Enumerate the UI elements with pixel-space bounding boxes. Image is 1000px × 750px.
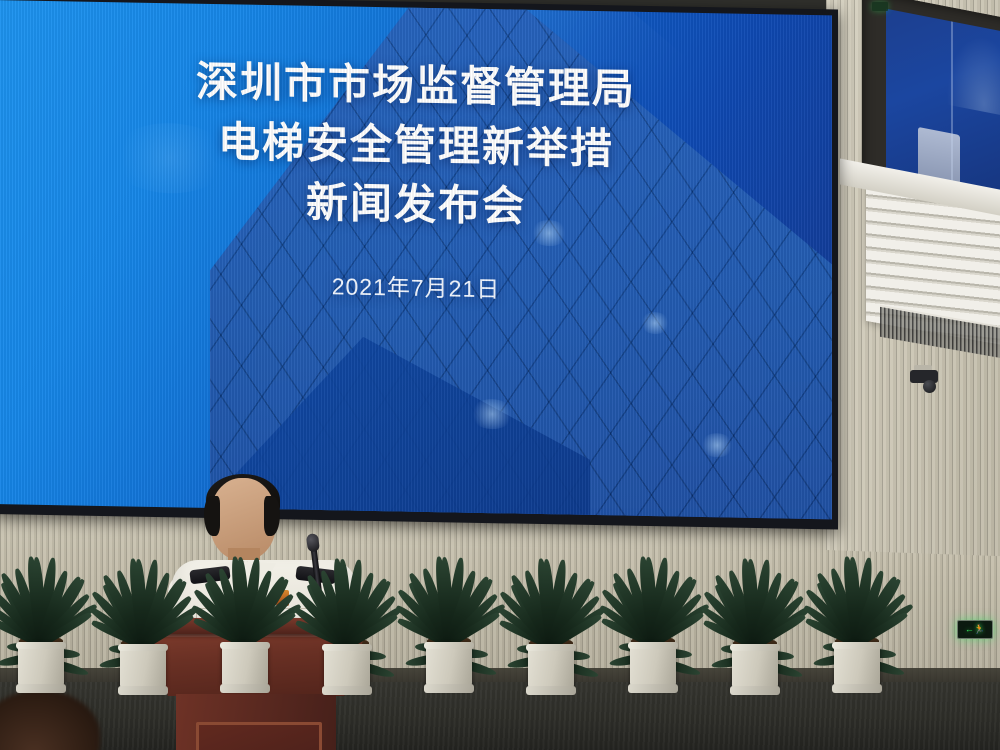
potted-plant [709, 529, 801, 690]
plant-pot-rim [526, 644, 576, 651]
slide-title: 深圳市市场监督管理局 电梯安全管理新举措 新闻发布会 [0, 48, 832, 242]
potted-plant [505, 523, 597, 690]
plant-pot-rim [424, 642, 474, 649]
slide-text-block: 深圳市市场监督管理局 电梯安全管理新举措 新闻发布会 2021年7月21日 [0, 0, 832, 310]
window-mullion [951, 21, 953, 185]
emergency-exit-sign-icon: ←🏃 [957, 620, 993, 639]
speaker-hair-left [204, 496, 220, 536]
camera-lens [923, 380, 936, 393]
plant-pot [426, 642, 472, 688]
potted-plant [607, 533, 699, 688]
window-glass [886, 9, 1000, 198]
plant-pot [732, 644, 778, 690]
led-screen-bezel: 深圳市市场监督管理局 电梯安全管理新举措 新闻发布会 2021年7月21日 [0, 0, 838, 529]
potted-plant [403, 527, 495, 688]
plant-pot-rim [16, 642, 66, 649]
press-conference-photo: ←🏃 深圳市市场监督管理局 电梯安全管理新举措 新闻发布会 2021年7月21日 [0, 0, 1000, 750]
podium-front-panel [196, 722, 322, 750]
plant-pot [324, 644, 370, 690]
plant-pot [18, 642, 64, 688]
plant-pot [630, 642, 676, 688]
potted-plant [811, 521, 903, 688]
exit-sign-secondary-icon [872, 2, 888, 11]
plant-pot [528, 644, 574, 690]
potted-plant [0, 533, 87, 688]
plant-pot [834, 642, 880, 688]
speaker-hair-right [264, 496, 280, 536]
plant-pot-rim [118, 644, 168, 651]
exit-sign-glyph: ←🏃 [965, 625, 985, 634]
plant-pot-rim [628, 642, 678, 649]
plant-pot-rim [730, 644, 780, 651]
plant-pot-rim [220, 642, 270, 649]
security-camera-icon [910, 370, 938, 392]
plant-pot [120, 644, 166, 690]
plant-pot [222, 642, 268, 688]
plant-pot-rim [322, 644, 372, 651]
microphone-head [306, 533, 320, 552]
led-screen: 深圳市市场监督管理局 电梯安全管理新举措 新闻发布会 2021年7月21日 [0, 0, 832, 519]
plant-pot-rim [832, 642, 882, 649]
